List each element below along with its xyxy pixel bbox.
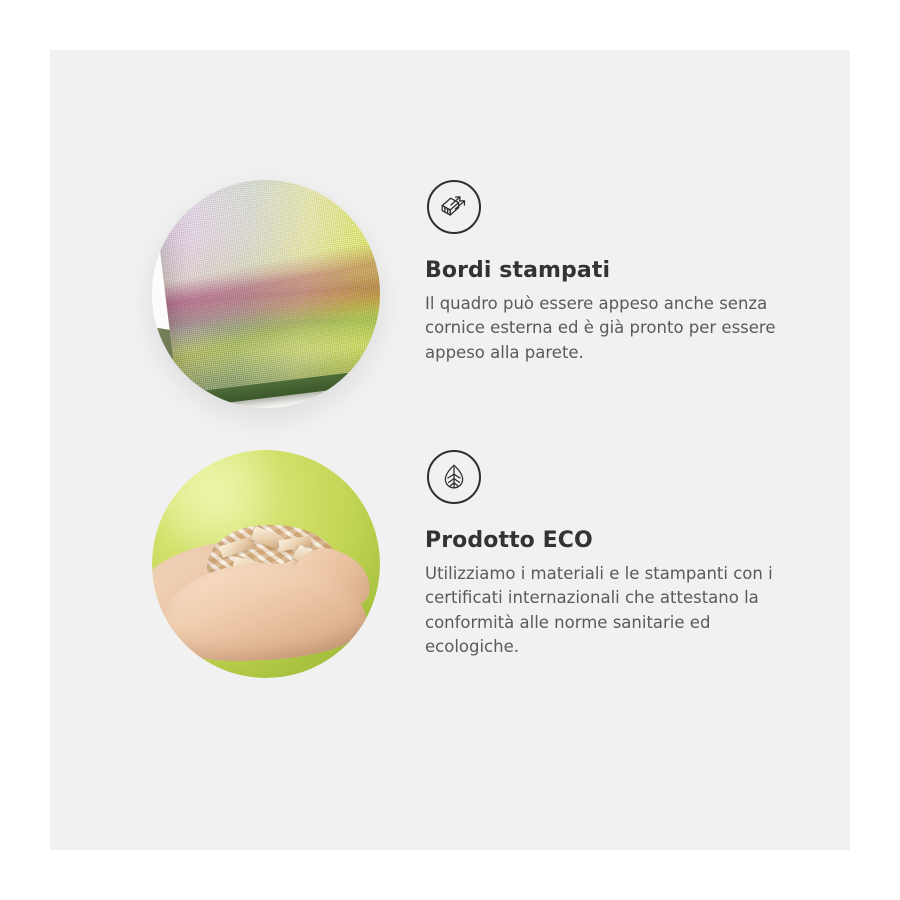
feature-content-printed-edges: Bordi stampati Il quadro può essere appe…	[425, 180, 825, 365]
content-panel: Bordi stampati Il quadro può essere appe…	[50, 50, 850, 850]
canvas-photo-inner	[152, 180, 380, 408]
feature-body: Il quadro può essere appeso anche senza …	[425, 292, 797, 365]
page-root: Bordi stampati Il quadro può essere appe…	[0, 0, 900, 900]
feature-block-eco-product: Prodotto ECO Utilizziamo i materiali e l…	[50, 450, 850, 720]
leaf-icon	[427, 450, 481, 504]
printed-edges-icon	[427, 180, 481, 234]
woodchip	[219, 536, 255, 558]
eco-photo-inner	[152, 450, 380, 678]
feature-content-eco-product: Prodotto ECO Utilizziamo i materiali e l…	[425, 450, 825, 659]
canvas-corner-photo	[152, 180, 380, 408]
feature-title: Prodotto ECO	[425, 528, 825, 553]
canvas-front-face	[152, 180, 380, 394]
canvas-paint-streaks	[152, 180, 380, 394]
feature-block-printed-edges: Bordi stampati Il quadro può essere appe…	[50, 180, 850, 450]
feature-body: Utilizziamo i materiali e le stampanti c…	[425, 562, 797, 659]
eco-hands-woodchips-photo	[152, 450, 380, 678]
feature-title: Bordi stampati	[425, 258, 825, 283]
